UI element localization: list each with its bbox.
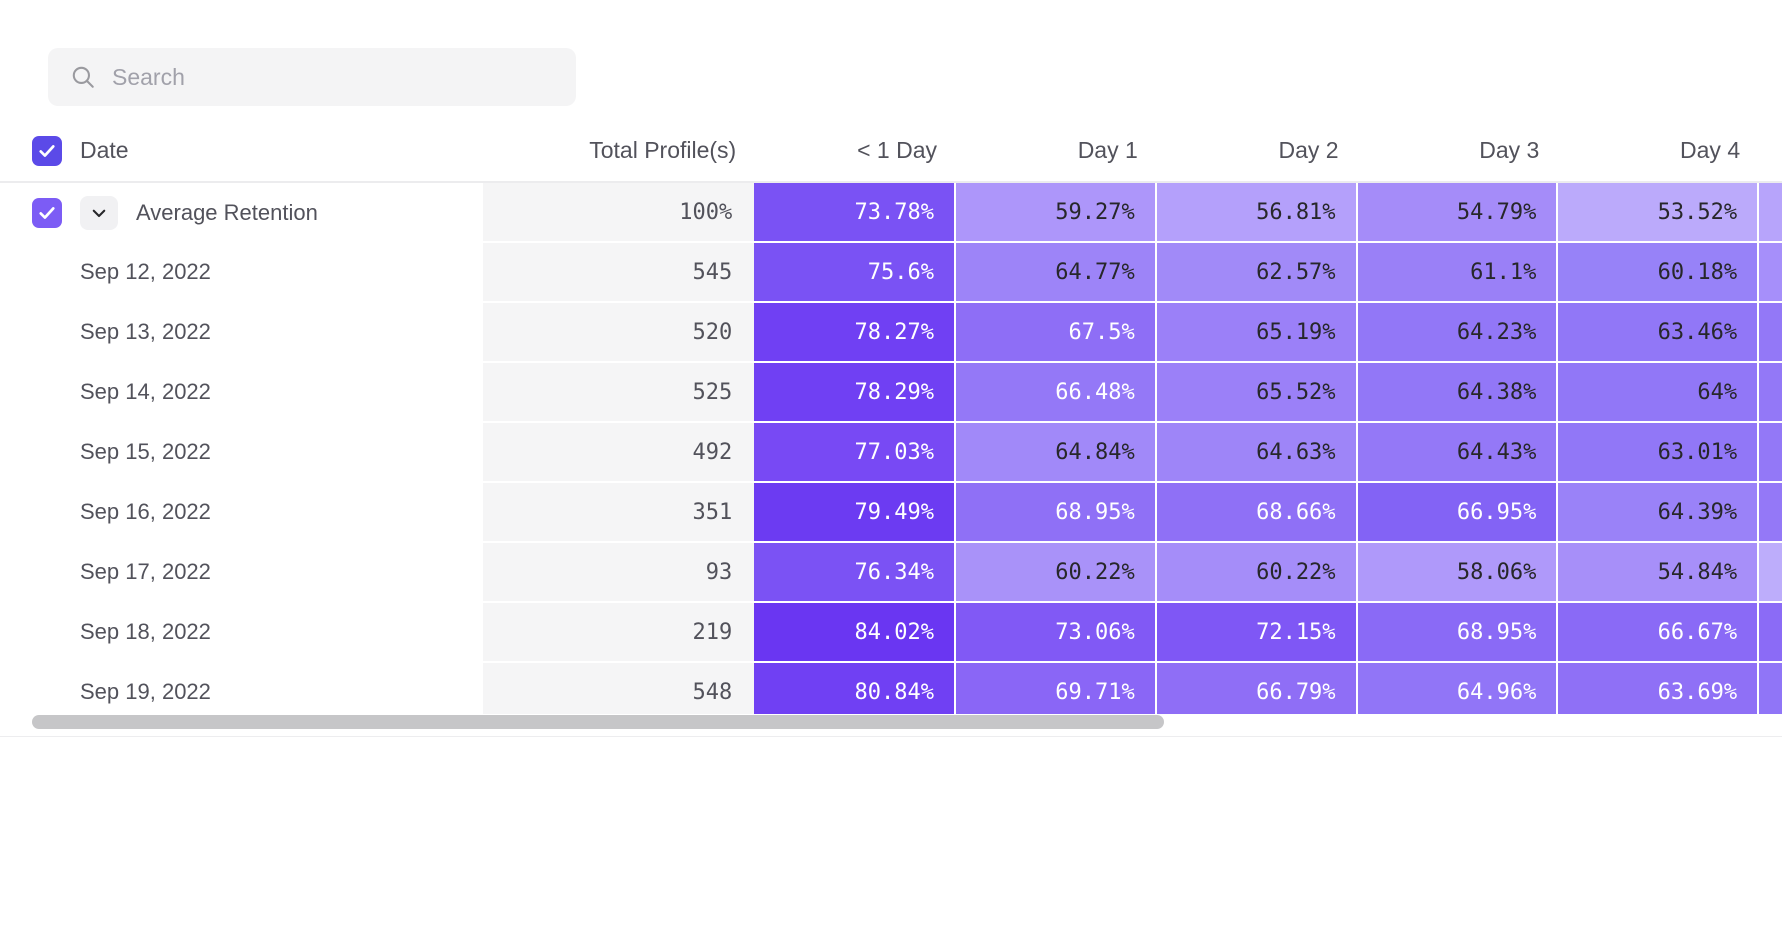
search-icon <box>70 64 96 90</box>
header-row: Date Total Profile(s) < 1 Day Day 1 Day … <box>0 120 1782 182</box>
row-date-cell: Sep 13, 2022 <box>0 302 483 362</box>
column-header-day-2[interactable]: Day 2 <box>1156 120 1357 182</box>
table-row[interactable]: Average Retention100%73.78%59.27%56.81%5… <box>0 182 1782 242</box>
table-row[interactable]: Sep 19, 202254880.84%69.71%66.79%64.96%6… <box>0 662 1782 720</box>
retention-table-page: Date Total Profile(s) < 1 Day Day 1 Day … <box>0 0 1782 930</box>
retention-cell[interactable]: 67.5% <box>955 302 1156 362</box>
retention-cell[interactable]: 64% <box>1557 362 1758 422</box>
horizontal-scrollbar-thumb[interactable] <box>32 715 1164 729</box>
row-label: Sep 16, 2022 <box>80 499 211 525</box>
retention-cell[interactable]: 54.84% <box>1557 542 1758 602</box>
table-row[interactable]: Sep 17, 20229376.34%60.22%60.22%58.06%54… <box>0 542 1782 602</box>
retention-cell[interactable]: 64.39% <box>1557 482 1758 542</box>
row-checkbox[interactable] <box>32 198 62 228</box>
retention-cell[interactable]: 64.63% <box>1156 422 1357 482</box>
row-label: Sep 14, 2022 <box>80 379 211 405</box>
table-body: Average Retention100%73.78%59.27%56.81%5… <box>0 182 1782 720</box>
retention-cell[interactable]: 64.23% <box>1357 302 1558 362</box>
retention-cell[interactable]: 60.18% <box>1557 242 1758 302</box>
retention-cell[interactable]: 73.06% <box>955 602 1156 662</box>
row-total-profiles: 351 <box>483 482 754 542</box>
row-total-profiles: 525 <box>483 362 754 422</box>
table-row[interactable]: Sep 18, 202221984.02%73.06%72.15%68.95%6… <box>0 602 1782 662</box>
table-row[interactable]: Sep 13, 202252078.27%67.5%65.19%64.23%63… <box>0 302 1782 362</box>
retention-cell[interactable]: 66.67% <box>1557 602 1758 662</box>
row-total-profiles: 545 <box>483 242 754 302</box>
row-label: Sep 17, 2022 <box>80 559 211 585</box>
column-header-total-profiles[interactable]: Total Profile(s) <box>483 120 754 182</box>
retention-cell[interactable]: 62.6% <box>1758 422 1782 482</box>
row-total-profiles: 93 <box>483 542 754 602</box>
retention-cell[interactable]: 61.1% <box>1357 242 1558 302</box>
retention-cell[interactable]: 64.77% <box>955 242 1156 302</box>
retention-cell[interactable]: 73.78% <box>754 182 955 242</box>
row-date-cell: Sep 15, 2022 <box>0 422 483 482</box>
row-total-profiles: 492 <box>483 422 754 482</box>
retention-cell[interactable]: 53.52% <box>1557 182 1758 242</box>
retention-cell[interactable]: 51.61% <box>1758 542 1782 602</box>
retention-cell[interactable]: 63.24% <box>1758 362 1782 422</box>
row-date-cell: Sep 16, 2022 <box>0 482 483 542</box>
row-date-cell: Sep 12, 2022 <box>0 242 483 302</box>
retention-cell[interactable]: 65.19% <box>1156 302 1357 362</box>
retention-cell[interactable]: 53.26% <box>1758 182 1782 242</box>
retention-cell[interactable]: 64.38% <box>1357 362 1558 422</box>
column-header-day-5[interactable]: Day 5 <box>1758 120 1782 182</box>
column-header-date-label: Date <box>80 137 129 164</box>
retention-cell[interactable]: 78.29% <box>754 362 955 422</box>
retention-cell[interactable]: 64.43% <box>1357 422 1558 482</box>
retention-cell[interactable]: 63.46% <box>1557 302 1758 362</box>
table-row[interactable]: Sep 12, 202254575.6%64.77%62.57%61.1%60.… <box>0 242 1782 302</box>
column-header-lt-1-day[interactable]: < 1 Day <box>754 120 955 182</box>
column-header-date[interactable]: Date <box>0 120 483 182</box>
retention-cell[interactable]: 60.22% <box>955 542 1156 602</box>
retention-cell[interactable]: 76.34% <box>754 542 955 602</box>
retention-cell[interactable]: 77.03% <box>754 422 955 482</box>
retention-cell[interactable]: 78.27% <box>754 302 955 362</box>
row-label: Sep 13, 2022 <box>80 319 211 345</box>
retention-cell[interactable]: 79.49% <box>754 482 955 542</box>
retention-cell[interactable]: 66.95% <box>1357 482 1558 542</box>
search-bar[interactable] <box>48 48 576 106</box>
retention-cell[interactable]: 64.96% <box>1357 662 1558 720</box>
retention-cell[interactable]: 62.69% <box>1758 302 1782 362</box>
retention-cell[interactable]: 59.27% <box>1758 242 1782 302</box>
table-row[interactable]: Sep 16, 202235179.49%68.95%68.66%66.95%6… <box>0 482 1782 542</box>
retention-cell[interactable]: 62.57% <box>1156 242 1357 302</box>
row-date-cell: Sep 19, 2022 <box>0 662 483 720</box>
retention-cell[interactable]: 72.15% <box>1156 602 1357 662</box>
retention-cell[interactable]: 60.22% <box>1156 542 1357 602</box>
row-label: Sep 19, 2022 <box>80 679 211 705</box>
retention-cell[interactable]: 58.06% <box>1357 542 1558 602</box>
retention-cell[interactable]: 63.32% <box>1758 662 1782 720</box>
row-label: Sep 12, 2022 <box>80 259 211 285</box>
retention-cell[interactable]: 66.79% <box>1156 662 1357 720</box>
retention-cell[interactable]: 65.52% <box>1156 362 1357 422</box>
search-input[interactable] <box>112 64 554 91</box>
row-date-cell: Average Retention <box>0 182 483 242</box>
retention-cell[interactable]: 66.48% <box>955 362 1156 422</box>
table-row[interactable]: Sep 14, 202252578.29%66.48%65.52%64.38%6… <box>0 362 1782 422</box>
row-date-cell: Sep 14, 2022 <box>0 362 483 422</box>
select-all-checkbox[interactable] <box>32 136 62 166</box>
row-date-cell: Sep 18, 2022 <box>0 602 483 662</box>
retention-cell[interactable]: 54.79% <box>1357 182 1558 242</box>
retention-table: Date Total Profile(s) < 1 Day Day 1 Day … <box>0 120 1782 720</box>
retention-cell[interactable]: 75.6% <box>754 242 955 302</box>
retention-cell[interactable]: 80.84% <box>754 662 955 720</box>
row-total-profiles: 520 <box>483 302 754 362</box>
retention-cell[interactable]: 68.95% <box>955 482 1156 542</box>
row-total-profiles: 219 <box>483 602 754 662</box>
retention-cell[interactable]: 56.81% <box>1156 182 1357 242</box>
row-label: Sep 18, 2022 <box>80 619 211 645</box>
row-total-profiles: 100% <box>483 182 754 242</box>
retention-cell[interactable]: 64.84% <box>955 422 1156 482</box>
retention-cell[interactable]: 59.27% <box>955 182 1156 242</box>
retention-cell[interactable]: 68.95% <box>1357 602 1558 662</box>
retention-cell[interactable]: 66.21% <box>1758 602 1782 662</box>
retention-table-scroll[interactable]: Date Total Profile(s) < 1 Day Day 1 Day … <box>0 120 1782 720</box>
footer-bar: Find Interesting Segments Receive an ema… <box>0 736 1782 930</box>
retention-cell[interactable]: 84.02% <box>754 602 955 662</box>
row-total-profiles: 548 <box>483 662 754 720</box>
retention-cell[interactable]: 68.66% <box>1156 482 1357 542</box>
row-label: Sep 15, 2022 <box>80 439 211 465</box>
chevron-down-icon[interactable] <box>80 196 118 230</box>
table-row[interactable]: Sep 15, 202249277.03%64.84%64.63%64.43%6… <box>0 422 1782 482</box>
column-header-day-3[interactable]: Day 3 <box>1357 120 1558 182</box>
row-label: Average Retention <box>136 200 318 226</box>
column-header-day-1[interactable]: Day 1 <box>955 120 1156 182</box>
retention-cell[interactable]: 63.01% <box>1557 422 1758 482</box>
retention-cell[interactable]: 63.69% <box>1557 662 1758 720</box>
retention-cell[interactable]: 63.25% <box>1758 482 1782 542</box>
retention-cell[interactable]: 69.71% <box>955 662 1156 720</box>
column-header-day-4[interactable]: Day 4 <box>1557 120 1758 182</box>
row-date-cell: Sep 17, 2022 <box>0 542 483 602</box>
table-header: Date Total Profile(s) < 1 Day Day 1 Day … <box>0 120 1782 182</box>
